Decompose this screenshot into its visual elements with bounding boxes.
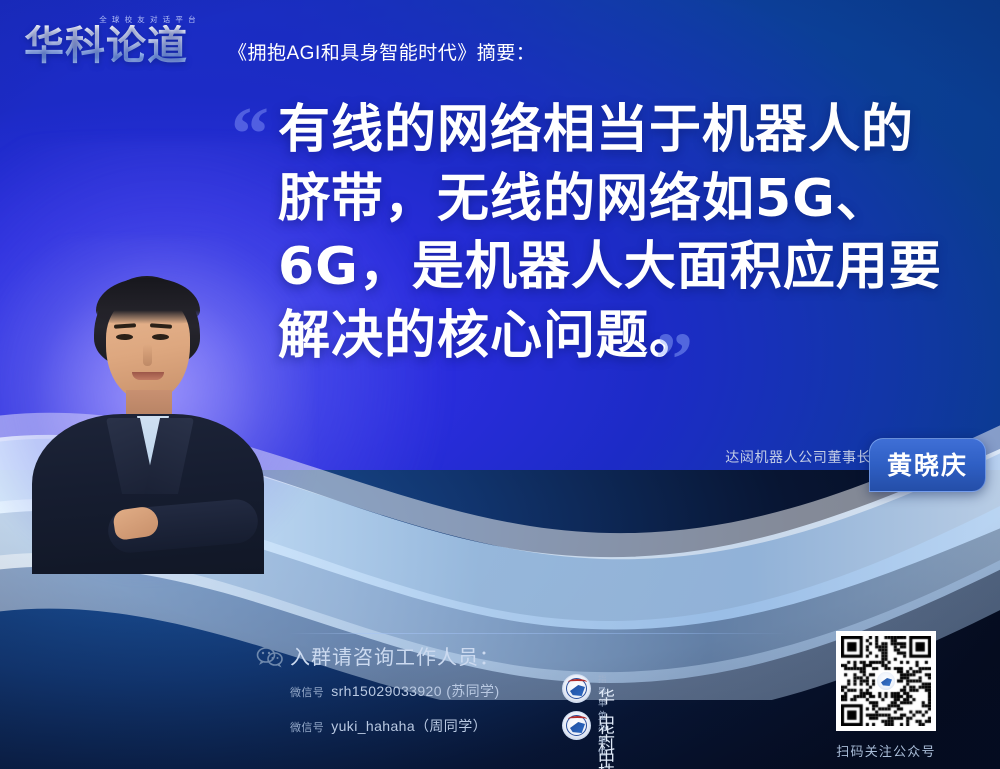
speaker-portrait [22,268,272,568]
wechat-label: 微信号 [290,722,324,734]
quote-line: 解决的核心问题。 [278,302,948,371]
university-seal-icon [562,674,591,703]
quote-text: 有线的网络相当于机器人的 脐带，无线的网络如5G、 6G，是机器人大面积应用要 … [278,96,948,371]
poster-header: 全球校友对话平台 华科论道 《拥抱AGI和具身智能时代》摘要： [0,0,1000,88]
qr-caption: 扫码关注公众号 [836,741,936,760]
wechat-contact-row: 微信号yuki_hahaha（周同学） [290,716,487,736]
qr-center-logo-icon [876,671,896,691]
wechat-icon [256,646,284,668]
logo-tagline: 全球校友对话平台 [80,14,220,25]
brand-logo: 全球校友对话平台 华科论道 [24,14,220,67]
wechat-value: yuki_hahaha（周同学） [331,718,487,734]
university-seal-icon [562,711,591,740]
wechat-value: srh15029033920 (苏同学) [331,683,499,699]
quote-line: 6G，是机器人大面积应用要 [278,233,948,302]
quote-line: 有线的网络相当于机器人的 [278,96,948,165]
qr-code-image[interactable] [836,631,936,731]
organization-name: 华中科技大学北京校友会 [598,720,616,769]
page-title: 《拥抱AGI和具身智能时代》摘要： [228,38,535,65]
quote-open-mark: “ [231,104,269,165]
quote-close-mark: ” [655,330,693,391]
speaker-name-badge: 黄晓庆 [869,438,986,492]
logo-wordmark: 华科论道 [24,25,220,67]
wechat-label: 微信号 [290,687,324,699]
poster-canvas: 全球校友对话平台 华科论道 《拥抱AGI和具身智能时代》摘要： “ 有线的网络相… [0,0,1000,769]
quote-line: 脐带，无线的网络如5G、 [278,165,948,234]
footer-divider [288,633,788,634]
wechat-contact-row: 微信号srh15029033920 (苏同学) [290,681,500,701]
footer-heading: 入群请咨询工作人员： [290,641,500,670]
portrait-figure [22,268,272,568]
qr-code-block[interactable]: 扫码关注公众号 [836,631,936,760]
